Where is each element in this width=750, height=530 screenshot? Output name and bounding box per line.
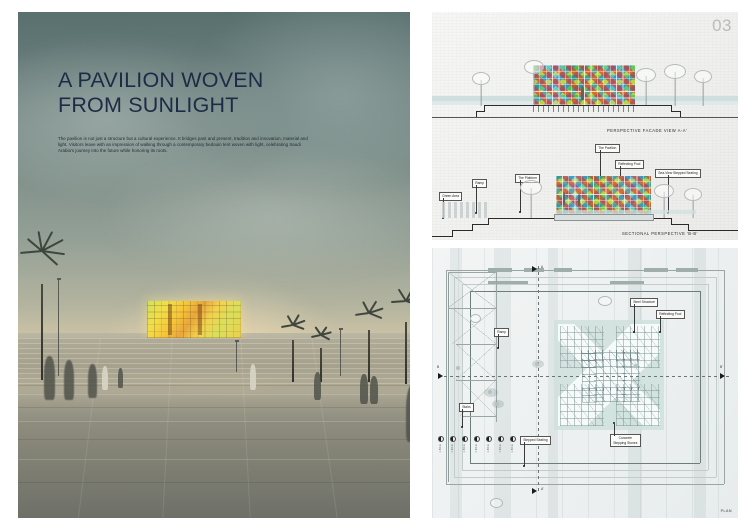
- axis-label-a-top: A: [541, 265, 543, 269]
- person-figure: [118, 368, 123, 388]
- plan-panel: A A' B B' Ramp Stairs Stepped Seating St…: [432, 248, 738, 518]
- scale-figure: [563, 192, 565, 205]
- facade-elevation-art: [533, 65, 635, 105]
- scale-figure: [578, 194, 580, 206]
- dimension-label: 1.50 m: [487, 444, 490, 453]
- axis-arrow-a-bottom: [532, 488, 537, 494]
- section-pavilion-art: [556, 176, 651, 214]
- palm-tree: [310, 334, 332, 382]
- person-plan-symbol: [456, 366, 460, 370]
- plaza-ground: [18, 338, 410, 518]
- person-figure: [64, 360, 74, 400]
- plan-caption: PLAN: [721, 509, 732, 513]
- ramp-chevron: [456, 344, 496, 380]
- pavilion-plinth: [554, 214, 654, 221]
- hero-description: The pavilion is not just a structure but…: [58, 136, 308, 155]
- stepping-stones-line-2: Stepping Stones: [613, 441, 637, 445]
- page-number: 03: [712, 16, 732, 36]
- person-figure: [360, 374, 368, 404]
- person-figure: [406, 384, 410, 442]
- tree-plan-symbol: [490, 498, 503, 508]
- hero-render-panel: A PAVILION WOVEN FROM SUNLIGHT The pavil…: [18, 12, 410, 518]
- section-axis-b: [438, 376, 732, 377]
- sectional-caption: SECTIONAL PERSPECTIVE 'B-B': [622, 231, 698, 236]
- plaza-steps: [18, 338, 410, 385]
- facade-columns: [533, 105, 635, 112]
- axis-arrow-a-top: [532, 266, 537, 272]
- tree-silhouette: [694, 70, 712, 106]
- axis-arrow-b-left: [438, 373, 443, 379]
- grid-bubble: [462, 436, 468, 442]
- tree-plan-symbol: [470, 314, 481, 323]
- person-figure: [88, 364, 97, 398]
- dimension-label: 1.50 m: [463, 444, 466, 453]
- person-plan-symbol: [495, 402, 499, 406]
- person-plan-symbol: [488, 390, 492, 394]
- person-plan-symbol: [634, 364, 638, 368]
- person-plan-symbol: [535, 362, 539, 366]
- person-figure: [370, 376, 378, 404]
- hero-title-line-1: A PAVILION WOVEN: [58, 68, 264, 93]
- tree-silhouette: [520, 180, 542, 218]
- callout-ramp: Ramp: [472, 179, 487, 188]
- axis-label-a-bottom: A': [541, 487, 544, 491]
- street-lamp: [58, 280, 59, 376]
- plan-callout-ramp: Ramp: [494, 328, 509, 337]
- street-lamp: [340, 330, 341, 376]
- hero-title: A PAVILION WOVEN FROM SUNLIGHT: [58, 68, 264, 118]
- palm-tree: [354, 312, 384, 382]
- tree-silhouette: [636, 68, 656, 106]
- grid-bubble: [510, 436, 516, 442]
- axis-label-b-left: B: [437, 365, 439, 369]
- tree-silhouette: [472, 72, 490, 106]
- facade-view-caption: PERSPECTIVE FACADE VIEW A-A': [607, 128, 687, 133]
- person-figure: [44, 356, 55, 400]
- person-figure: [250, 364, 256, 390]
- presentation-board: A PAVILION WOVEN FROM SUNLIGHT The pavil…: [0, 0, 750, 530]
- tree-silhouette: [524, 60, 544, 104]
- dimension-label: 1.50 m: [451, 444, 454, 453]
- axis-arrow-b-right: [720, 373, 725, 379]
- scale-figure: [581, 86, 584, 100]
- grid-bubble: [450, 436, 456, 442]
- hero-title-line-2: FROM SUNLIGHT: [58, 93, 264, 118]
- grid-bubble: [498, 436, 504, 442]
- grid-bubble: [474, 436, 480, 442]
- dimension-label: 1.50 m: [475, 444, 478, 453]
- pavilion-building-render: [147, 301, 241, 337]
- dimension-label: 1.50 m: [511, 444, 514, 453]
- callout-pavilion: The Pavilion: [595, 144, 620, 153]
- axis-label-b-right: B': [720, 365, 723, 369]
- palm-tree: [390, 300, 410, 384]
- sections-panel: 03 PERSPECTIVE FAC: [432, 12, 738, 240]
- person-figure: [102, 366, 108, 390]
- ramp-chevron: [448, 272, 496, 308]
- dimension-label: 1.50 m: [499, 444, 502, 453]
- palm-tree: [280, 324, 306, 382]
- platform-profile-upper: [484, 105, 672, 106]
- tree-silhouette: [664, 64, 686, 106]
- section-axis-a: [538, 266, 539, 494]
- grid-bubble: [438, 436, 444, 442]
- plan-callout-stepped-seating: Stepped Seating: [520, 436, 551, 445]
- callout-stepped-seating: Sea-View Stepped Seating: [655, 169, 701, 178]
- street-lamp: [236, 342, 237, 372]
- tree-plan-symbol: [598, 296, 612, 306]
- green-area-planting: [442, 202, 488, 218]
- grid-bubble: [486, 436, 492, 442]
- person-figure: [314, 372, 321, 400]
- dimension-label: 1.50 m: [439, 444, 442, 453]
